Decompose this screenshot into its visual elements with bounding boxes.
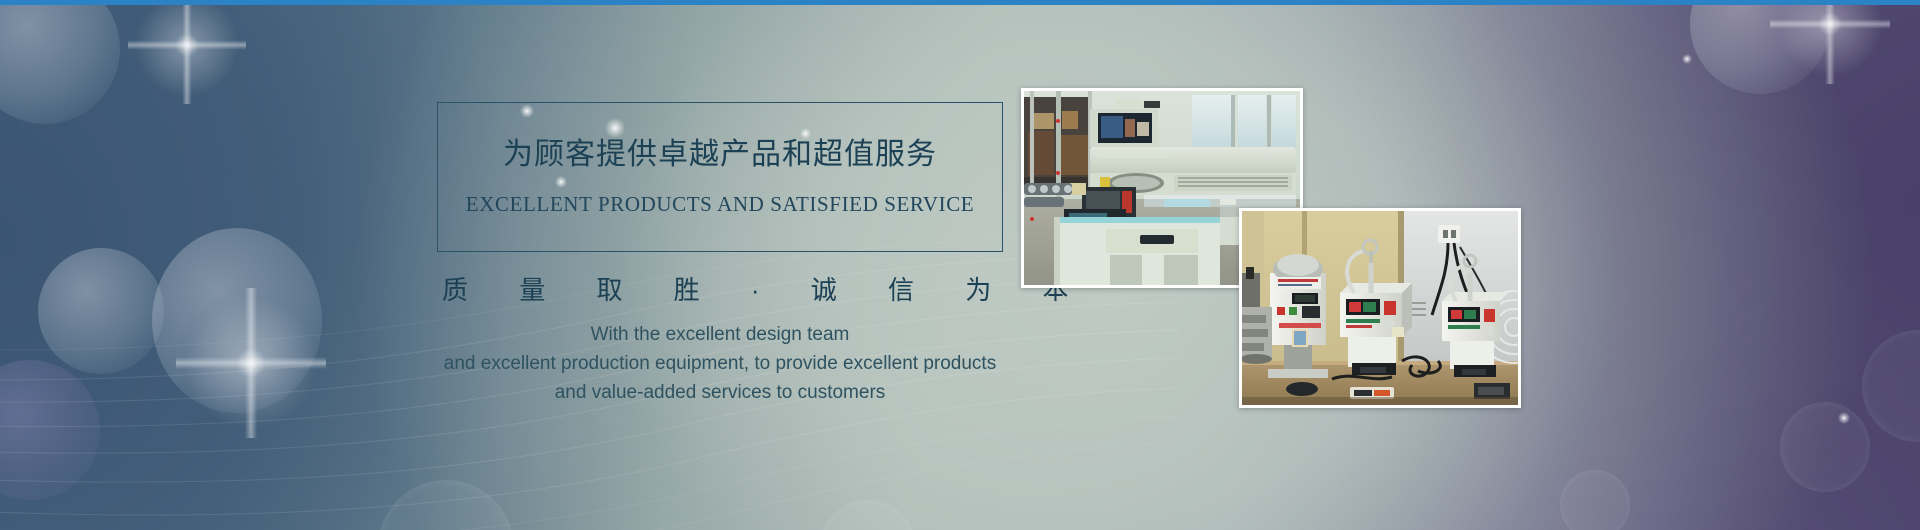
top-accent-rule xyxy=(0,0,1920,5)
photo-crimping-machines[interactable] xyxy=(1239,208,1521,408)
hero-banner: 为顾客提供卓越产品和超值服务 EXCELLENT PRODUCTS AND SA… xyxy=(0,0,1920,530)
description-line-1: With the excellent design team xyxy=(330,320,1110,349)
description-paragraph: With the excellent design team and excel… xyxy=(330,320,1110,407)
photo-frame xyxy=(1242,211,1518,405)
description-line-3: and value-added services to customers xyxy=(330,378,1110,407)
headline-chinese: 为顾客提供卓越产品和超值服务 xyxy=(437,135,1003,175)
slogan-copy-block: 为顾客提供卓越产品和超值服务 EXCELLENT PRODUCTS AND SA… xyxy=(0,0,1920,530)
slogan-outline-box xyxy=(437,102,1003,252)
description-line-2: and excellent production equipment, to p… xyxy=(330,349,1110,378)
company-motto: 质 量 取 胜 · 诚 信 为 本 xyxy=(420,272,1020,308)
crimping-machines-illustration xyxy=(1242,211,1518,405)
headline-english: EXCELLENT PRODUCTS AND SATISFIED SERVICE xyxy=(437,190,1003,218)
